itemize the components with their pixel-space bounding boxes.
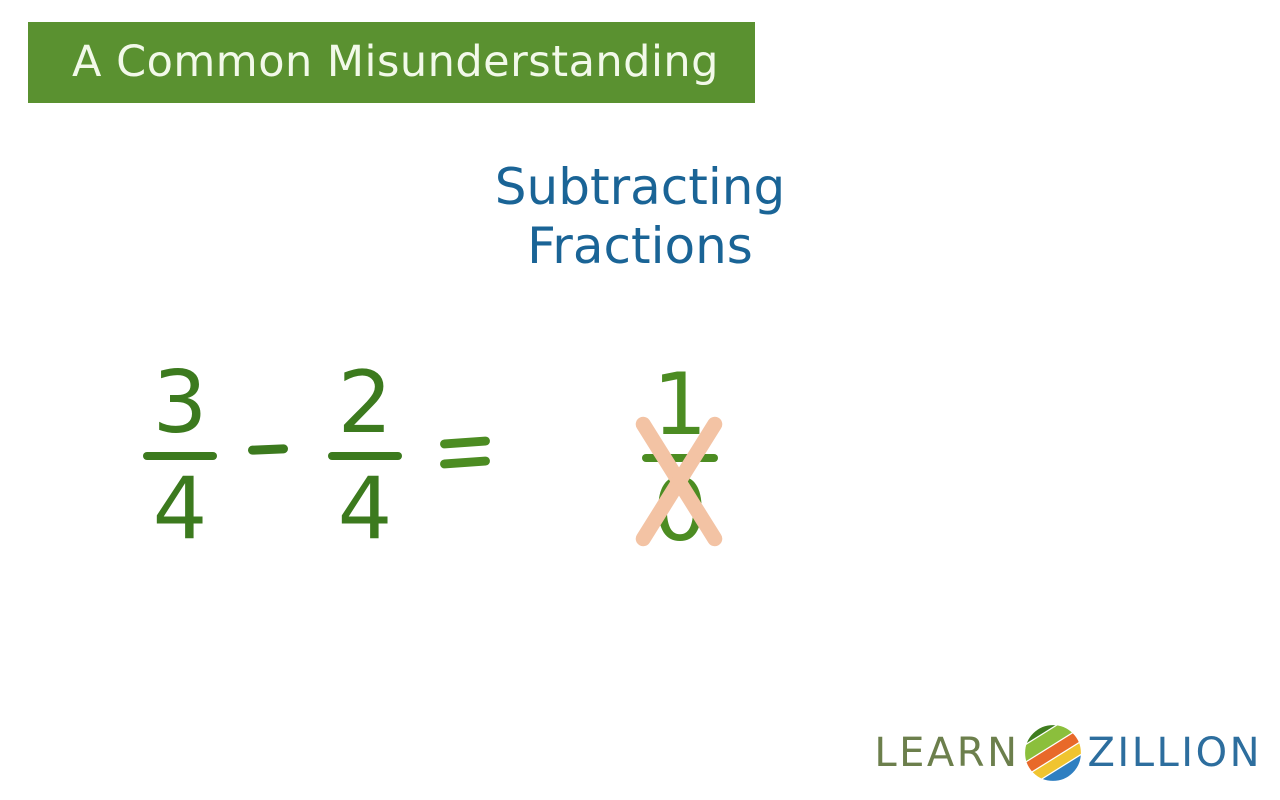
equals-stroke-bottom [440,456,491,468]
title-banner: A Common Misunderstanding [28,22,755,103]
fraction-first-numerator: 3 [120,360,240,448]
page-title: A Common Misunderstanding [72,41,719,84]
equation-area: 3 4 2 4 1 0 [110,350,810,610]
globe-icon [1022,722,1084,784]
fraction-second-denominator: 4 [305,466,425,554]
subtitle-line-1: Subtracting [390,158,890,217]
logo-word-zillion: ZILLION [1088,733,1262,773]
equals-stroke-top [440,436,491,448]
fraction-second: 2 4 [305,360,425,553]
slide-canvas: A Common Misunderstanding Subtracting Fr… [0,0,1280,800]
fraction-result-denominator: 0 [620,468,740,556]
subtitle: Subtracting Fractions [390,158,890,276]
subtitle-line-2: Fractions [390,217,890,276]
fraction-first-denominator: 4 [120,466,240,554]
logo-word-learn: LEARN [874,733,1019,773]
learnzillion-logo: LEARN ZILLION [874,726,1262,780]
minus-operator [248,444,288,455]
fraction-result-numerator: 1 [620,362,740,450]
fraction-first: 3 4 [120,360,240,553]
equals-operator [440,438,492,472]
fraction-second-numerator: 2 [305,360,425,448]
fraction-result: 1 0 [620,362,740,555]
